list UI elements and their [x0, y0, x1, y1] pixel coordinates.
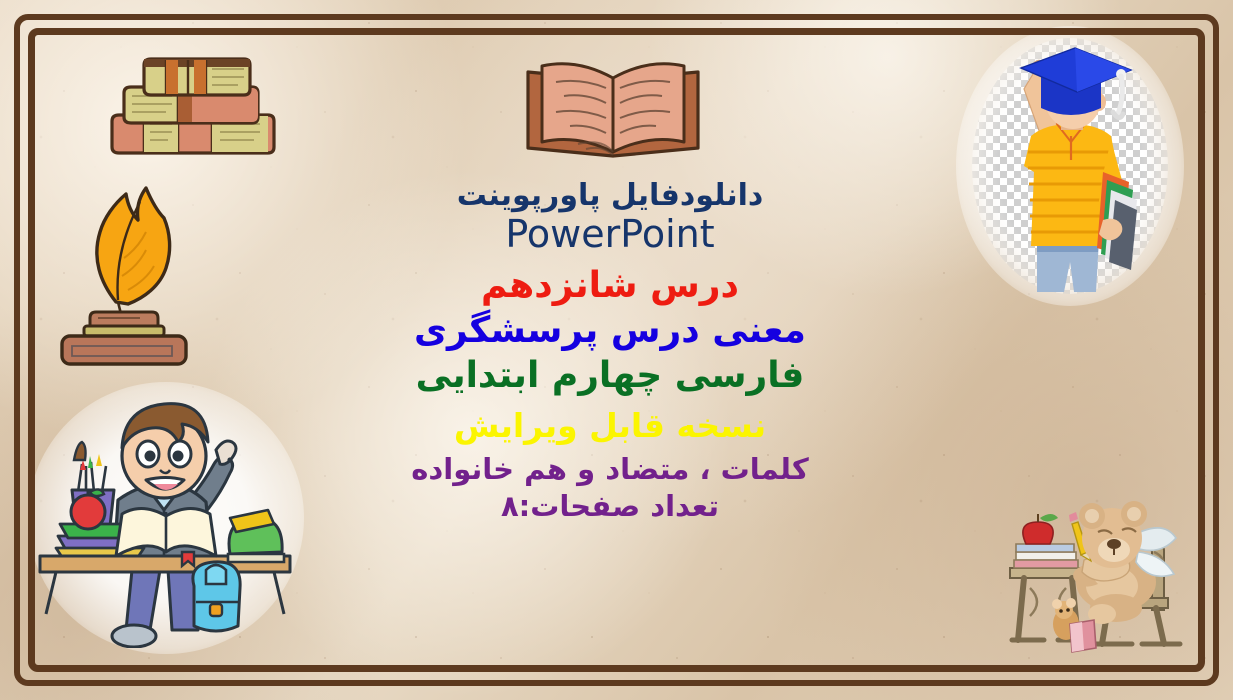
powerpoint-slide: دانلودفایل پاورپوینت PowerPoint درس شانز…: [0, 0, 1233, 700]
stacked-books-illustration: [100, 55, 290, 165]
schoolboy-at-desk-illustration: [34, 388, 296, 648]
topics-list: کلمات ، متضاد و هم خانواده: [330, 454, 890, 485]
lesson-meaning: معنی درس پرسشگری: [330, 312, 890, 351]
editable-version: نسخه قابل ویرایش: [330, 408, 890, 444]
quill-pen-inkwell-illustration: [48, 176, 198, 366]
grade-subject: فارسی چهارم ابتدایی: [330, 357, 890, 396]
graduate-boy-photo: [975, 40, 1165, 292]
download-label: دانلودفایل پاورپوینت: [330, 180, 890, 212]
powerpoint-label: PowerPoint: [330, 214, 890, 255]
teddy-bear-at-desk-illustration: [996, 490, 1208, 656]
page-count: تعداد صفحات:۸: [330, 491, 890, 522]
slide-text-block: دانلودفایل پاورپوینت PowerPoint درس شانز…: [330, 180, 890, 522]
lesson-title: درس شانزدهم: [330, 267, 890, 306]
open-book-illustration: [520, 52, 706, 162]
